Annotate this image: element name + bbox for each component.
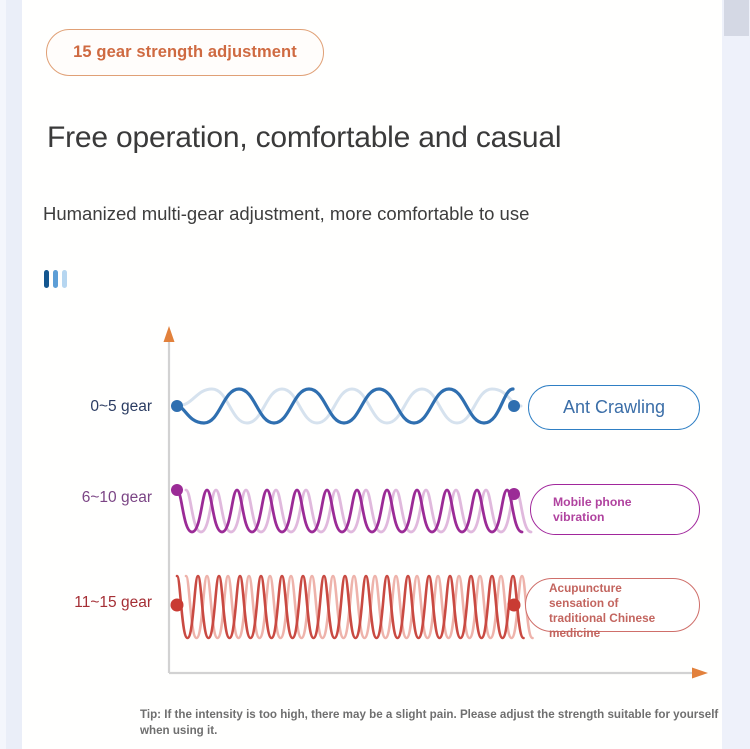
- wave-end-dot-1: [508, 488, 520, 500]
- page-subtitle: Humanized multi-gear adjustment, more co…: [43, 203, 529, 225]
- sensation-pill-acupuncture[interactable]: Acupuncture sensation of traditional Chi…: [525, 578, 700, 632]
- badge-label: 15 gear strength adjustment: [73, 43, 297, 62]
- wave-end-dot-2: [508, 599, 521, 612]
- gear-label-0: 0~5 gear: [42, 398, 152, 416]
- wave-row-0: [171, 389, 521, 423]
- left-edge-strip-inner: [0, 0, 6, 749]
- decorative-bars: [44, 270, 67, 288]
- sensation-pill-ant-crawling[interactable]: Ant Crawling: [528, 385, 700, 430]
- gear-strength-badge: 15 gear strength adjustment: [46, 29, 324, 76]
- right-edge-strip: [722, 0, 750, 749]
- page-root: 15 gear strength adjustment Free operati…: [0, 0, 750, 749]
- gear-label-1: 6~10 gear: [42, 489, 152, 507]
- wave-start-dot-0: [171, 400, 183, 412]
- decorative-bar-2: [53, 270, 58, 288]
- sensation-pill-label-0: Ant Crawling: [563, 397, 665, 418]
- sensation-pill-label-2-line3: traditional Chinese: [549, 611, 655, 625]
- sensation-pill-label-1-line2: vibration: [553, 510, 604, 524]
- vertical-scrollbar-thumb[interactable]: [724, 0, 749, 36]
- tip-text: Tip: If the intensity is too high, there…: [140, 707, 730, 740]
- decorative-bar-1: [44, 270, 49, 288]
- left-edge-strip: [0, 0, 22, 749]
- sensation-pill-mobile-vibration[interactable]: Mobile phone vibration: [530, 484, 700, 535]
- sensation-pill-label-2: Acupuncture sensation of traditional Chi…: [549, 581, 655, 641]
- wave-start-dot-1: [171, 484, 183, 496]
- sensation-pill-label-1-line1: Mobile phone: [553, 495, 632, 509]
- wave-row-1: [171, 484, 531, 532]
- wave-row-2: [171, 576, 533, 638]
- wave-line-0: [177, 389, 513, 423]
- content-area: 15 gear strength adjustment Free operati…: [22, 0, 722, 749]
- wave-line-1: [177, 490, 522, 532]
- sensation-pill-label-2-line4: medicine: [549, 626, 600, 640]
- wave-start-dot-2: [171, 599, 184, 612]
- wave-line-2: [177, 576, 524, 638]
- y-axis-arrow-icon: [164, 326, 175, 342]
- gear-label-2: 11~15 gear: [32, 594, 152, 612]
- decorative-bar-3: [62, 270, 67, 288]
- sensation-pill-label-1: Mobile phone vibration: [553, 495, 632, 525]
- sensation-pill-label-2-line1: Acupuncture: [549, 581, 622, 595]
- x-axis-arrow-icon: [692, 668, 708, 679]
- page-title: Free operation, comfortable and casual: [47, 121, 561, 155]
- wave-end-dot-0: [508, 400, 520, 412]
- sensation-pill-label-2-line2: sensation of: [549, 596, 618, 610]
